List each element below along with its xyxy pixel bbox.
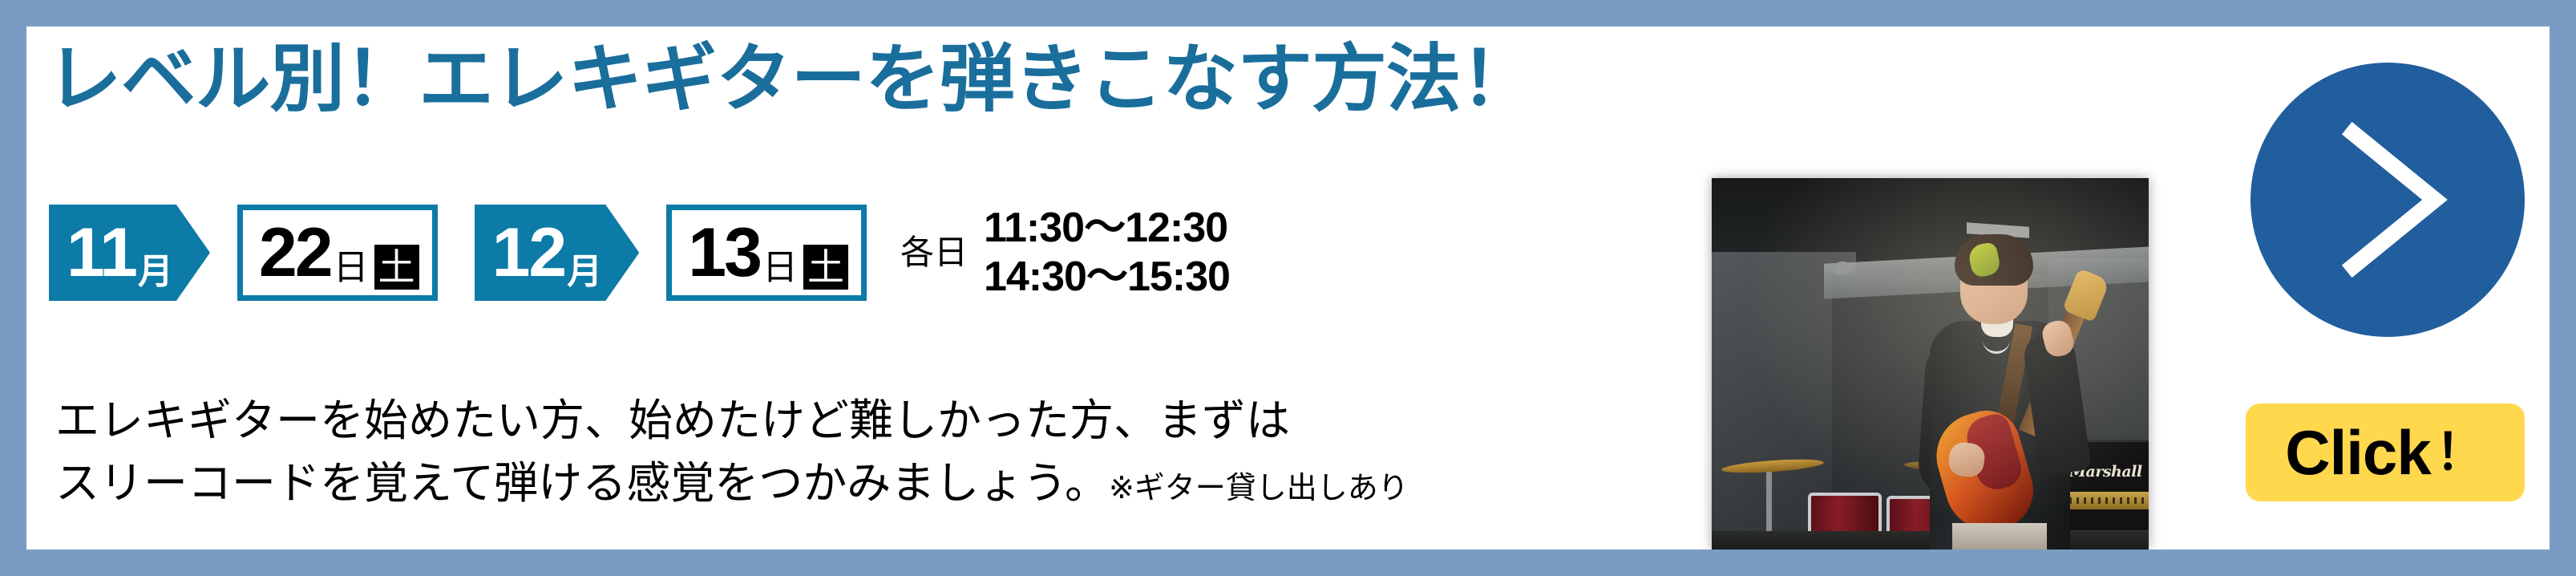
each-day-label: 各日 <box>900 236 968 270</box>
description-line-1: エレキギターを始めたい方、始めたけど難しかった方、まずは <box>55 389 1409 452</box>
banner-inner: レベル別！エレキギターを弾きこなす方法！ 11 月 22 日 土 12 月 13… <box>26 26 2550 550</box>
month-pennant-2: 12 月 <box>475 205 640 301</box>
month-number-2: 12 <box>492 218 566 287</box>
click-button-mark: ！ <box>2436 428 2485 477</box>
day-unit-1: 日 <box>334 250 369 295</box>
arrow-circle-button[interactable] <box>2250 63 2525 337</box>
month-unit-1: 月 <box>138 254 173 301</box>
time-slot-1: 11:30～12:30 <box>984 204 1230 253</box>
description-block: エレキギターを始めたい方、始めたけど難しかった方、まずは スリーコードを覚えて弾… <box>55 389 1409 514</box>
description-line-2-text: スリーコードを覚えて弾ける感覚をつかみましょう。 <box>55 457 1109 509</box>
click-button[interactable]: Click ！ <box>2246 404 2525 501</box>
day-of-week-badge-1: 土 <box>374 245 419 290</box>
day-box-2: 13 日 土 <box>666 205 867 301</box>
time-list: 11:30～12:30 14:30～15:30 <box>984 204 1230 302</box>
day-box-1: 22 日 土 <box>237 205 438 301</box>
amp-control-panel <box>2064 492 2149 509</box>
photo-dome-camera <box>1834 262 1851 274</box>
time-slot-2: 14:30～15:30 <box>984 253 1230 302</box>
chevron-right-icon <box>2250 63 2525 337</box>
guitar-lesson-photo: Marshall <box>1712 178 2149 550</box>
schedule-row: 11 月 22 日 土 12 月 13 日 土 各日 11 <box>49 205 1230 301</box>
click-button-label: Click <box>2285 421 2430 484</box>
description-line-2: スリーコードを覚えて弾ける感覚をつかみましょう。※ギター貸し出しあり <box>55 452 1409 514</box>
day-unit-2: 日 <box>762 250 798 295</box>
month-pennant-1: 11 月 <box>49 205 210 301</box>
description-note: ※ギター貸し出しあり <box>1109 470 1409 505</box>
month-number-1: 11 <box>67 218 136 287</box>
page-title: レベル別！エレキギターを弾きこなす方法！ <box>47 41 1535 119</box>
month-unit-2: 月 <box>567 254 602 301</box>
promo-banner: レベル別！エレキギターを弾きこなす方法！ 11 月 22 日 土 12 月 13… <box>0 0 2576 576</box>
day-number-1: 22 <box>259 218 331 287</box>
day-of-week-badge-2: 土 <box>803 245 848 290</box>
times-block: 各日 11:30～12:30 14:30～15:30 <box>900 205 1230 301</box>
day-number-2: 13 <box>688 218 760 287</box>
photo-person-pants <box>1952 523 2047 550</box>
